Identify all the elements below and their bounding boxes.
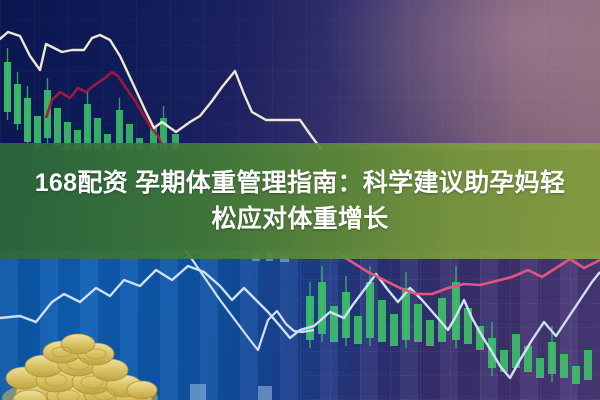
banner-title: 168配资 孕期体重管理指南：科学建议助孕妈轻 松应对体重增长 — [0, 143, 600, 259]
title-line-1: 168配资 孕期体重管理指南：科学建议助孕妈轻 — [35, 166, 566, 200]
title-line-2: 松应对体重增长 — [211, 202, 388, 236]
top-candlestick-group — [4, 48, 179, 152]
article-banner: 168配资 孕期体重管理指南：科学建议助孕妈轻 松应对体重增长 — [0, 0, 600, 400]
bottom-candlestick-group — [190, 252, 592, 400]
gold-coin-pile — [2, 334, 158, 400]
